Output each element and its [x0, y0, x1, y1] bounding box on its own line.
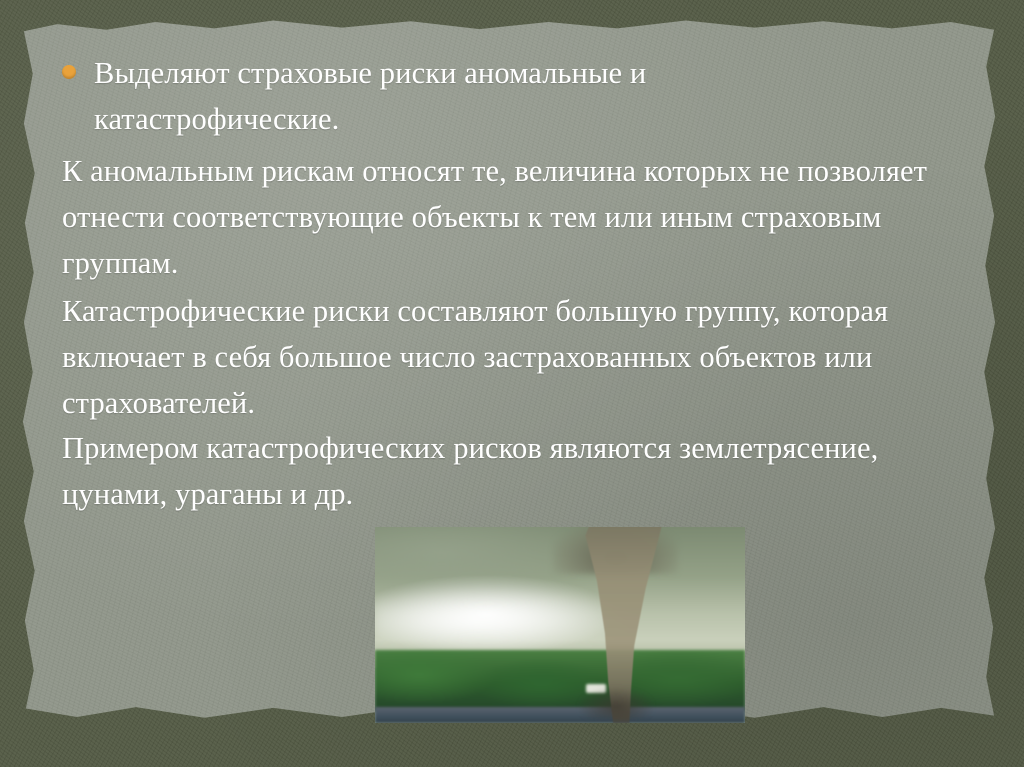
- photo-haze: [375, 582, 745, 660]
- photo-forest: [375, 650, 745, 711]
- paragraph-catastrophic-examples: Примером катастрофических рисков являютс…: [62, 425, 962, 517]
- paragraph-catastrophic-risks: Катастрофические риски составляют большу…: [62, 288, 962, 426]
- bullet-item-text: Выделяют страховые риски аномальные и ка…: [94, 56, 646, 136]
- presentation-slide: Выделяют страховые риски аномальные и ка…: [0, 0, 1024, 767]
- bullet-list-item: Выделяют страховые риски аномальные и ка…: [62, 50, 794, 142]
- paragraph-anomalous-risks: К аномальным рискам относят те, величина…: [62, 148, 962, 286]
- slide-content: Выделяют страховые риски аномальные и ка…: [0, 0, 1024, 767]
- photo-debris-cloud: [579, 688, 653, 719]
- bullet-dot-icon: [62, 65, 76, 79]
- tornado-photograph: [375, 527, 745, 723]
- photo-shoreline: [375, 707, 745, 723]
